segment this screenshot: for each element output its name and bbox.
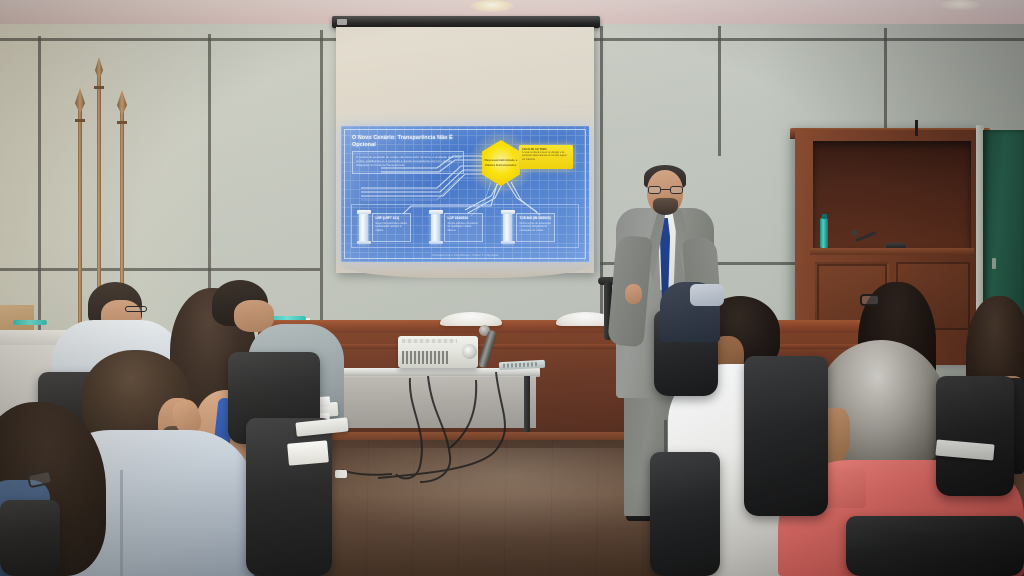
glasses-lens-right <box>670 186 683 194</box>
notebook <box>287 440 329 465</box>
pillar-3-label: TCE-MG (IN 05/2020) <box>520 216 552 220</box>
podium-cable <box>915 120 918 136</box>
pillar-1-label: LRF (LRFT 101) <box>376 216 408 220</box>
aud-man-glasses-icon <box>125 306 147 312</box>
pillar-3-desc: Define regras de adequação e remessa obr… <box>520 222 552 233</box>
shirt-placket-seam <box>120 470 123 576</box>
spear-collar <box>94 86 104 89</box>
roller-logo-icon <box>337 19 347 25</box>
presenter-beard <box>653 198 678 215</box>
podium-shelf <box>810 248 974 255</box>
pillar-3: TCE-MG (IN 05/2020) Define regras de ade… <box>503 210 555 244</box>
presenter-glasses-icon <box>648 186 683 194</box>
presenter-hand-left <box>625 284 642 304</box>
pillar-2-desc: Amplia padrões normativos de qualidade e… <box>448 222 480 233</box>
floor-power-plug <box>335 470 347 478</box>
ceiling-light-icon <box>470 0 514 12</box>
slide-subtitle: O cenário de prestação de contas, não ba… <box>356 155 462 167</box>
pillar-1: LRF (LRFT 101) Exige transparência e dad… <box>359 210 411 244</box>
conference-table-moulding <box>258 344 898 349</box>
pillar-3-box: TCE-MG (IN 05/2020) Define regras de ade… <box>516 213 555 242</box>
pillar-base <box>501 241 515 245</box>
bottle-cap-icon <box>822 214 827 219</box>
door-handle-icon[interactable] <box>992 258 996 269</box>
podium-recess <box>813 141 971 249</box>
projector-top-vents <box>402 339 457 343</box>
pillar-column-icon <box>431 213 440 244</box>
floor-cables <box>300 370 630 510</box>
pillar-capital <box>357 210 371 214</box>
conference-room-photo: O Novo Cenário: Transparência Não É Opci… <box>0 0 1024 576</box>
spear-pole-left <box>78 100 82 338</box>
pillar-capital <box>501 210 515 214</box>
pillar-2-label: LCP 234/2024 <box>448 216 480 220</box>
chair <box>0 500 60 576</box>
slide-title: O Novo Cenário: Transparência Não É Opci… <box>352 135 472 150</box>
wall-seam <box>718 26 721 156</box>
pillar-2-box: LCP 234/2024 Amplia padrões normativos d… <box>444 213 483 242</box>
aud-man-dark-suit-shirt <box>690 284 724 306</box>
pillar-base <box>357 241 371 245</box>
teal-object-left <box>13 320 47 325</box>
slide-callout: LIGUE-SE AO TEMA A nova Lei altera o dev… <box>519 145 573 169</box>
pillar-base <box>429 241 443 245</box>
wall-seam <box>320 30 323 330</box>
pillar-1-desc: Exige transparência e dados estruturados… <box>376 222 408 233</box>
projected-slide: O Novo Cenário: Transparência Não É Opci… <box>341 126 589 262</box>
glasses-bridge <box>661 189 670 190</box>
slide-footer: Transparência e Compliance | Painel 1 In… <box>341 254 589 257</box>
aud-woman-podium-glasses-icon <box>860 294 880 306</box>
hexagon-label: Representatividade e Dados Estruturados <box>479 158 523 168</box>
chair <box>744 356 828 516</box>
spear-collar <box>75 119 85 122</box>
wall-seam <box>0 268 320 271</box>
pillar-column-icon <box>503 213 512 244</box>
projector-lens-icon <box>462 344 477 359</box>
slide-subtitle-box: O cenário de prestação de contas, não ba… <box>352 151 464 174</box>
wall-seam <box>38 36 41 336</box>
wall-seam <box>884 28 887 138</box>
pillar-1-box: LRF (LRFT 101) Exige transparência e dad… <box>372 213 411 242</box>
chair <box>650 452 720 576</box>
projector-port-panel <box>402 351 448 364</box>
spear-collar <box>117 121 127 124</box>
pillar-capital <box>429 210 443 214</box>
chair <box>846 516 1024 576</box>
ceiling-light-secondary-icon <box>940 0 980 10</box>
glasses-lens-left <box>648 186 661 194</box>
pillar-column-icon <box>359 213 368 244</box>
pillar-2: LCP 234/2024 Amplia padrões normativos d… <box>431 210 483 244</box>
callout-body: A nova Lei altera o dever de divulgar e … <box>522 152 570 162</box>
water-bottle <box>820 218 828 248</box>
podium-microphone-head-icon <box>852 230 858 236</box>
chair <box>936 376 1014 496</box>
callout-title: LIGUE-SE AO TEMA <box>522 148 570 152</box>
